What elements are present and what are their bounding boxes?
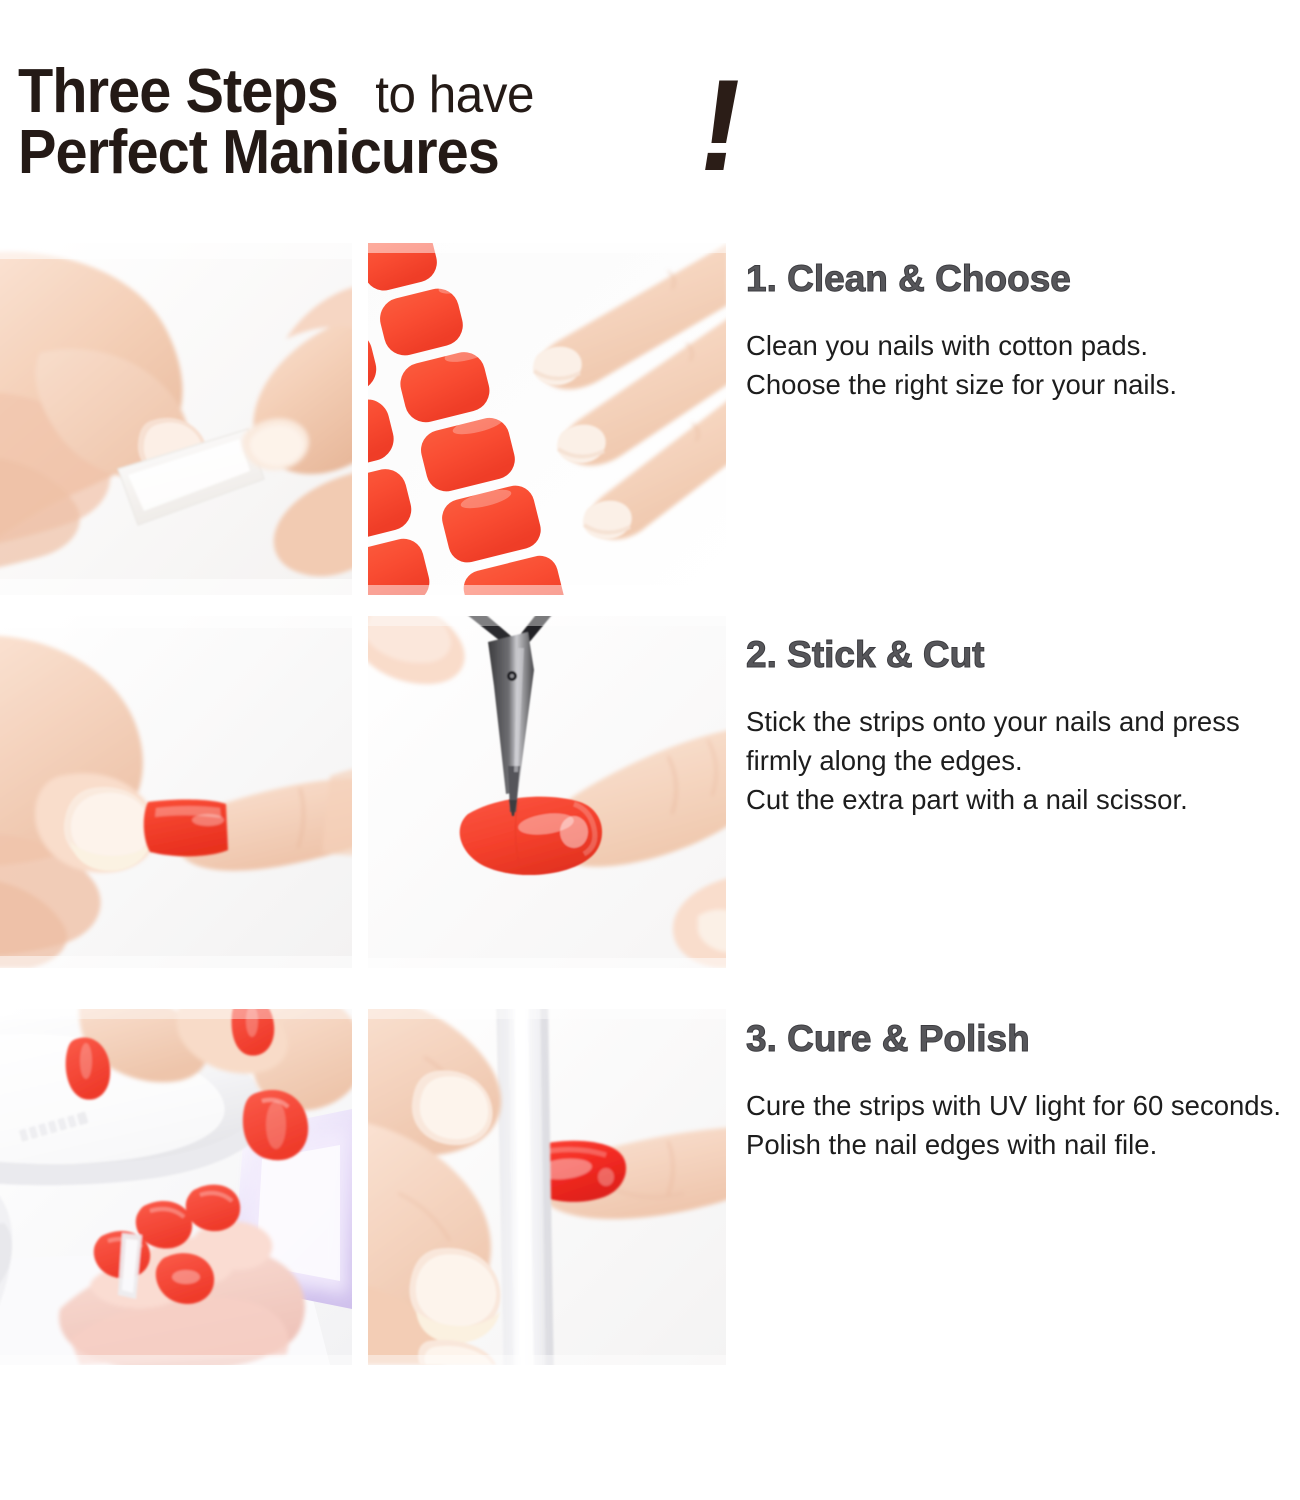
step-1-body: Clean you nails with cotton pads.Choose …: [746, 326, 1292, 404]
title-light-1: to have: [362, 70, 534, 121]
step-3-text-block: 3. Cure & Polish Cure the strips with UV…: [746, 1018, 1292, 1164]
step-1-text-block: 1. Clean & Choose Clean you nails with c…: [746, 258, 1292, 404]
uv-lamp-curing-photo: [0, 1009, 352, 1365]
title-bold-1: Three Steps: [18, 62, 338, 123]
page-title: Three Stepsto have Perfect Manicures: [18, 62, 778, 184]
step-2-heading: 2. Stick & Cut: [746, 634, 1292, 676]
title-line-1: Three Stepsto have: [18, 62, 778, 123]
step-1-heading: 1. Clean & Choose: [746, 258, 1292, 300]
nail-file-polishing-photo: [368, 1009, 726, 1365]
title-line-2: Perfect Manicures: [18, 123, 778, 184]
step-2-body: Stick the strips onto your nails and pre…: [746, 702, 1292, 819]
step-2-text-block: 2. Stick & Cut Stick the strips onto you…: [746, 634, 1292, 819]
cutting-with-scissor-photo: [368, 616, 726, 968]
cotton-pad-cleaning-photo: [0, 243, 352, 595]
step-3-heading: 3. Cure & Polish: [746, 1018, 1292, 1060]
nail-strip-sheet-photo: [368, 243, 726, 595]
sticking-strip-photo: [0, 616, 352, 968]
title-bold-2: Perfect Manicures: [18, 123, 499, 184]
step-3-body: Cure the strips with UV light for 60 sec…: [746, 1086, 1292, 1164]
